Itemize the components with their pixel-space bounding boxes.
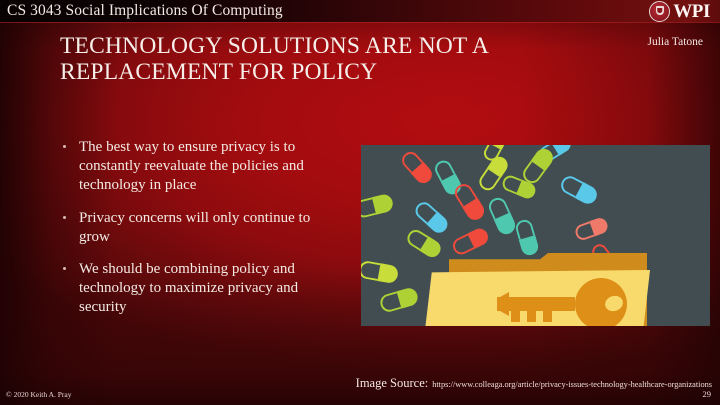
pill-half-solid bbox=[372, 193, 395, 215]
slide-canvas: CS 3043 Social Implications Of Computing… bbox=[0, 0, 720, 405]
wpi-seal-icon bbox=[649, 1, 670, 22]
pill-capsule bbox=[450, 226, 491, 257]
bullet-list: The best way to ensure privacy is to con… bbox=[58, 138, 343, 318]
wpi-logo-text: WPI bbox=[673, 2, 710, 21]
wpi-logo: WPI bbox=[649, 1, 710, 22]
image-source-label: Image Source: bbox=[356, 376, 429, 390]
key-tooth bbox=[527, 311, 536, 322]
list-item: We should be combining policy and techno… bbox=[58, 260, 343, 318]
pill-capsule bbox=[361, 193, 395, 220]
slide-illustration bbox=[361, 145, 710, 326]
pill-half-solid bbox=[397, 286, 420, 309]
list-item-text: We should be combining policy and techno… bbox=[79, 261, 298, 315]
pill-capsule bbox=[573, 216, 609, 242]
bullet-dot-icon bbox=[63, 216, 66, 219]
copyright-notice: © 2020 Keith A. Pray bbox=[6, 390, 72, 399]
pill-capsule bbox=[399, 148, 436, 186]
presenter-name: Julia Tatone bbox=[647, 36, 703, 48]
key-nose bbox=[497, 292, 509, 316]
pill-capsule bbox=[558, 173, 600, 207]
course-title: CS 3043 Social Implications Of Computing bbox=[7, 1, 283, 21]
page-number: 29 bbox=[703, 389, 712, 399]
bullet-dot-icon bbox=[63, 267, 66, 270]
image-source-line: Image Source: https://www.colleaga.org/a… bbox=[0, 374, 712, 392]
list-item: The best way to ensure privacy is to con… bbox=[58, 138, 343, 196]
list-item: Privacy concerns will only continue to g… bbox=[58, 209, 343, 247]
pill-capsule bbox=[378, 286, 419, 314]
slide-header-bar: CS 3043 Social Implications Of Computing bbox=[0, 0, 720, 22]
slide-title: TECHNOLOGY SOLUTIONS ARE NOT A REPLACEME… bbox=[60, 33, 580, 85]
key-icon bbox=[497, 278, 627, 326]
key-tooth bbox=[543, 311, 552, 322]
key-tooth bbox=[511, 311, 520, 322]
image-source-url[interactable]: https://www.colleaga.org/article/privacy… bbox=[432, 380, 712, 389]
key-bow bbox=[575, 278, 627, 326]
pill-capsule bbox=[486, 195, 518, 237]
pill-capsule bbox=[514, 218, 540, 257]
pill-capsule bbox=[361, 260, 399, 284]
bullet-dot-icon bbox=[63, 145, 66, 148]
pill-half-solid bbox=[377, 263, 399, 284]
pill-half-solid bbox=[519, 235, 540, 257]
key-bow-hole bbox=[603, 294, 625, 314]
list-item-text: The best way to ensure privacy is to con… bbox=[79, 139, 304, 193]
list-item-text: Privacy concerns will only continue to g… bbox=[79, 210, 310, 245]
folder-front bbox=[425, 270, 650, 326]
